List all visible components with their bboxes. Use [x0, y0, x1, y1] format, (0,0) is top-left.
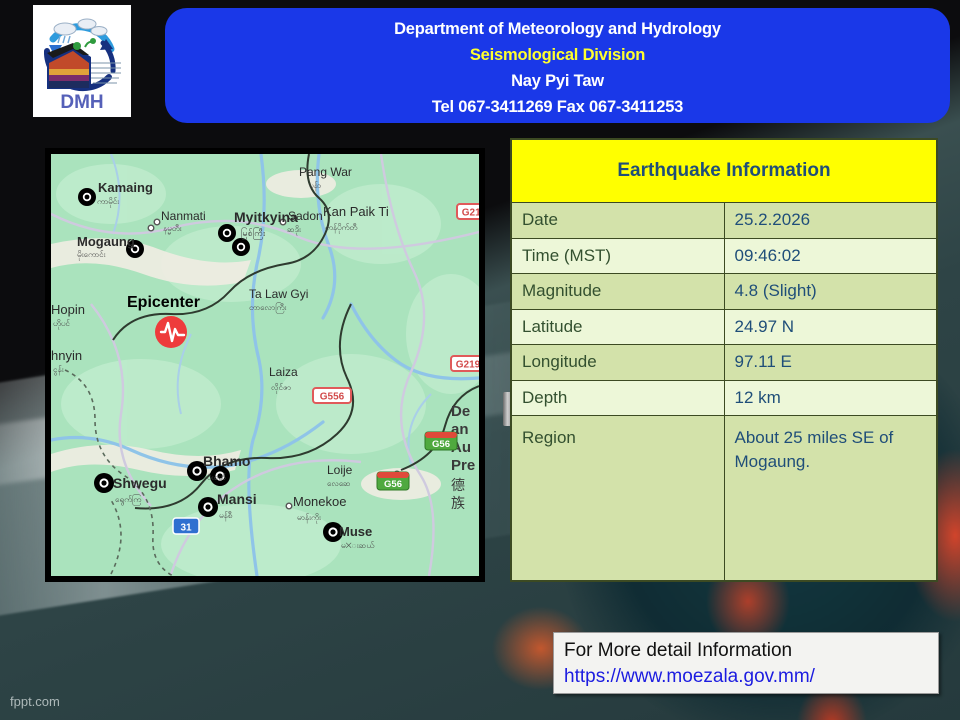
- route-shield-g219-north: G219: [457, 204, 479, 219]
- table-row-date: Date 25.2.2026: [512, 203, 937, 239]
- banner-line-department: Department of Meteorology and Hydrology: [165, 16, 950, 42]
- svg-text:Ta Law Gyi: Ta Law Gyi: [249, 287, 308, 301]
- svg-text:မြစ်ကြီး: မြစ်ကြီး: [241, 227, 266, 240]
- svg-text:Laiza: Laiza: [269, 365, 298, 379]
- svg-text:ရွေက်ကြ: ရွေက်ကြ: [115, 494, 141, 506]
- svg-text:G56: G56: [432, 439, 450, 450]
- svg-text:မိုးကောင်း: မိုးကောင်း: [77, 249, 107, 261]
- more-info-box[interactable]: For More detail Information https://www.…: [553, 632, 939, 694]
- svg-text:ကန်ပိုက်တီ: ကန်ပိုက်တီ: [325, 222, 357, 234]
- epicenter-map[interactable]: Kamaing ကာမိုင်း Mogaung မိုးကောင်း Nanm…: [45, 148, 485, 582]
- row-value-depth: 12 km: [724, 380, 937, 416]
- svg-text:De: De: [451, 403, 470, 420]
- svg-text:ပန်ာ: ပန်ာ: [309, 180, 321, 192]
- svg-text:လိုင်ဇာ: လိုင်ဇာ: [271, 382, 291, 394]
- svg-text:မာန်းကိုး: မာန်းကိုး: [297, 512, 322, 524]
- route-shield-g219-south: G219: [451, 356, 479, 371]
- svg-text:ပဲးမော်: ပဲးမော်: [207, 472, 226, 482]
- svg-text:Monekoe: Monekoe: [293, 494, 346, 509]
- logo-text: DMH: [60, 92, 103, 113]
- svg-text:Shwegu: Shwegu: [113, 475, 167, 491]
- fppt-watermark: fppt.com: [10, 694, 60, 709]
- map-labels-layer: Kamaing ကာမိုင်း Mogaung မိုးကောင်း Nanm…: [51, 154, 479, 576]
- row-value-latitude: 24.97 N: [724, 309, 937, 345]
- svg-text:hnyin: hnyin: [51, 348, 82, 363]
- svg-text:တာလောကြီး: တာလောကြီး: [249, 302, 287, 314]
- svg-text:31: 31: [180, 523, 192, 534]
- prefecture-label: De an Au Pre 德 族: [451, 403, 475, 511]
- svg-text:မ྾းဆယ်: မ྾းဆယ်: [341, 540, 374, 550]
- route-shield-g56-west: G56: [377, 472, 409, 490]
- row-value-date: 25.2.2026: [724, 203, 937, 239]
- svg-text:族: 族: [451, 495, 465, 511]
- svg-text:Hopin: Hopin: [51, 302, 85, 317]
- table-row-longitude: Longitude 97.11 E: [512, 345, 937, 381]
- svg-text:Nanmati: Nanmati: [161, 209, 206, 223]
- svg-text:Pang War: Pang War: [299, 165, 352, 179]
- svg-text:လေဆေ: လေဆေ: [327, 479, 351, 488]
- route-shield-g56-east: G56: [425, 432, 457, 450]
- row-label-latitude: Latitude: [512, 309, 725, 345]
- slide-canvas: DMH Department of Meteorology and Hydrol…: [0, 0, 960, 720]
- svg-text:ငွန်း: ငွန်း: [53, 364, 65, 376]
- banner-line-contact: Tel 067-3411269 Fax 067-3411253: [165, 94, 950, 120]
- row-label-depth: Depth: [512, 380, 725, 416]
- banner-line-city: Nay Pyi Taw: [165, 68, 950, 94]
- row-label-longitude: Longitude: [512, 345, 725, 381]
- svg-text:Loije: Loije: [327, 463, 353, 477]
- svg-text:Pre: Pre: [451, 457, 475, 474]
- svg-text:နမ္မတီး: နမ္မတီး: [163, 223, 183, 235]
- row-label-time: Time (MST): [512, 238, 725, 274]
- header-banner: Department of Meteorology and Hydrology …: [165, 8, 950, 123]
- table-row-magnitude: Magnitude 4.8 (Slight): [512, 274, 937, 310]
- table-row-depth: Depth 12 km: [512, 380, 937, 416]
- svg-text:ဟိုပင်: ဟိုပင်: [53, 318, 70, 330]
- city-marker-small: [148, 219, 400, 509]
- svg-text:G56: G56: [384, 479, 402, 490]
- table-row-latitude: Latitude 24.97 N: [512, 309, 937, 345]
- row-value-longitude: 97.11 E: [724, 345, 937, 381]
- dmh-logo: DMH: [33, 5, 131, 117]
- svg-text:Sadon: Sadon: [288, 209, 323, 223]
- banner-line-division: Seismological Division: [165, 42, 950, 68]
- svg-text:Muse: Muse: [339, 524, 372, 539]
- row-value-region: About 25 miles SE of Mogaung.: [724, 416, 937, 581]
- row-value-time: 09:46:02: [724, 238, 937, 274]
- row-label-date: Date: [512, 203, 725, 239]
- table-row-time: Time (MST) 09:46:02: [512, 238, 937, 274]
- svg-text:G219: G219: [456, 360, 479, 371]
- row-value-magnitude: 4.8 (Slight): [724, 274, 937, 310]
- svg-text:မန်စီ: မန်စီ: [219, 510, 232, 522]
- svg-text:Mansi: Mansi: [217, 491, 257, 507]
- row-label-magnitude: Magnitude: [512, 274, 725, 310]
- epicenter-label: Epicenter: [127, 294, 200, 312]
- route-shield-nh31: 31: [173, 518, 199, 534]
- svg-text:G219: G219: [462, 208, 479, 219]
- svg-text:G556: G556: [320, 392, 345, 403]
- svg-text:ကာမိုင်း: ကာမိုင်း: [97, 196, 120, 208]
- svg-text:ဆဒိုး: ဆဒိုး: [287, 224, 302, 236]
- moezala-link[interactable]: https://www.moezala.gov.mm/: [564, 664, 928, 690]
- table-title: Earthquake Information: [512, 140, 937, 203]
- svg-text:Bhamo: Bhamo: [203, 453, 250, 469]
- more-info-label: For More detail Information: [564, 638, 928, 664]
- svg-text:德: 德: [451, 477, 465, 493]
- svg-text:Kan Paik Ti: Kan Paik Ti: [323, 204, 389, 219]
- svg-text:Mogaung: Mogaung: [77, 234, 135, 249]
- row-label-region: Region: [512, 416, 725, 581]
- table-row-region: Region About 25 miles SE of Mogaung.: [512, 416, 937, 581]
- earthquake-info-table: Earthquake Information Date 25.2.2026 Ti…: [510, 138, 938, 582]
- svg-text:Kamaing: Kamaing: [98, 180, 153, 195]
- route-shield-g556: G556: [313, 388, 351, 403]
- epicenter-marker[interactable]: [155, 316, 187, 348]
- water-cycle-icon: DMH: [33, 5, 131, 117]
